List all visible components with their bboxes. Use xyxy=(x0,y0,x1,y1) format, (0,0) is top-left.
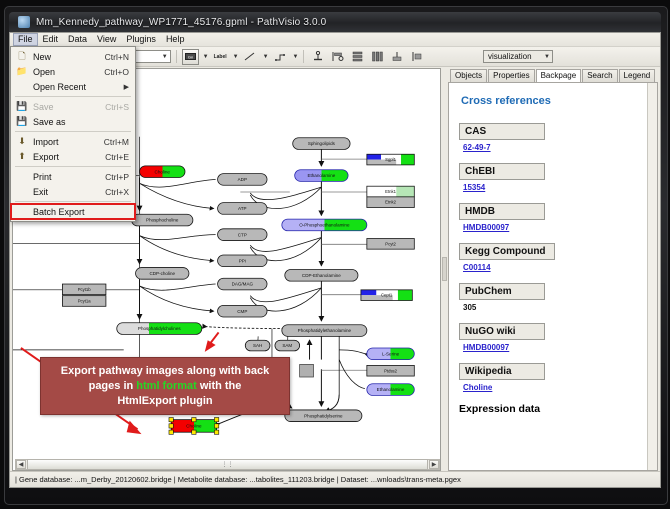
toolbar-separator xyxy=(176,50,177,63)
callout-line1: Export pathway images along with back xyxy=(61,365,269,377)
menu-view[interactable]: View xyxy=(92,33,121,46)
open-folder-icon: 📁 xyxy=(11,66,33,77)
menu-edit[interactable]: Edit xyxy=(38,33,64,46)
pathway-node-label: Choline xyxy=(155,169,171,174)
pathway-node-choline-selected[interactable]: Choline xyxy=(169,418,219,435)
file-menu-item-export[interactable]: ⬆ExportCtrl+E xyxy=(11,149,135,164)
pathway-gene-pcyt2[interactable]: Pcyt2 xyxy=(367,239,414,250)
pathway-node-label: Sphingolipids xyxy=(308,141,336,146)
pathway-node-label: CDP-choline xyxy=(149,271,175,276)
xref-label-kegg-compound: Kegg Compound xyxy=(459,243,555,260)
tab-legend[interactable]: Legend xyxy=(619,69,656,82)
pathway-gene-label: Ptdss2 xyxy=(384,368,398,373)
tab-objects[interactable]: Objects xyxy=(450,69,487,82)
pathway-node-choline-top[interactable]: Choline xyxy=(140,166,185,178)
pathway-node-label: Phosphocholine xyxy=(146,218,179,223)
status-bar-text: | Gene database: ...m_Derby_20120602.bri… xyxy=(10,475,461,484)
xref-label-wikipedia: Wikipedia xyxy=(459,363,545,380)
file-menu-item-new[interactable]: 🗋NewCtrl+N xyxy=(11,49,135,64)
selection-handle[interactable] xyxy=(214,424,218,428)
callout-line2-b: with the xyxy=(197,380,242,392)
pathway-node-label: Ethanolamine xyxy=(377,387,405,392)
status-bar: | Gene database: ...m_Derby_20120602.bri… xyxy=(10,471,660,487)
menu-bar: File Edit Data View Plugins Help xyxy=(10,33,660,47)
xref-label-chebi: ChEBI xyxy=(459,163,545,180)
file-menu-item-accelerator: Ctrl+P xyxy=(105,172,135,182)
file-menu-separator xyxy=(15,201,131,202)
file-menu-item-accelerator: Ctrl+M xyxy=(104,137,135,147)
datanode-icon[interactable]: Gn xyxy=(182,49,199,65)
file-menu-item-batch-export[interactable]: Batch Export xyxy=(11,204,135,219)
file-menu-separator xyxy=(15,131,131,132)
tab-properties[interactable]: Properties xyxy=(488,69,534,82)
xref-label-pubchem: PubChem xyxy=(459,283,545,300)
pathway-node-cmp[interactable]: CMP xyxy=(218,305,267,317)
label-dropdown-icon[interactable]: ▼ xyxy=(233,54,239,60)
pathway-node-phosphocholine[interactable]: Phosphocholine xyxy=(132,214,193,226)
scrollbar-thumb[interactable]: ⋮⋮ xyxy=(27,459,428,470)
side-panel: Objects Properties Backpage Search Legen… xyxy=(448,68,658,471)
align-left-icon[interactable] xyxy=(329,49,346,65)
pathway-node-label: ATP xyxy=(238,206,247,211)
interaction-dropdown-icon[interactable]: ▼ xyxy=(293,54,299,60)
pathway-gene-label: Pcyt2 xyxy=(385,241,396,246)
panel-splitter[interactable] xyxy=(441,66,448,471)
selection-handle[interactable] xyxy=(169,418,173,422)
file-menu-item-label: Import xyxy=(33,137,104,147)
annotation-callout-text: Export pathway images along with back pa… xyxy=(55,364,275,409)
xref-label-nugo-wiki: NuGO wiki xyxy=(459,323,545,340)
group-icon[interactable] xyxy=(389,49,406,65)
file-menu-item-label: Open xyxy=(33,67,104,77)
file-menu-item-label: Save as xyxy=(33,117,129,127)
pathway-node-label: CMP xyxy=(237,309,247,314)
pathway-gene-cept1[interactable]: Cept1 xyxy=(361,290,412,301)
pathway-node-label: Phosphatidylserine xyxy=(304,413,343,418)
file-menu-item-label: Exit xyxy=(33,187,105,197)
pathway-node-label: Phosphatidylethanolamine xyxy=(298,328,352,333)
pathway-gene-pcyt1a[interactable]: Pcyt1a xyxy=(62,296,105,307)
pathway-node-phosphatidylserine[interactable]: Phosphatidylserine xyxy=(285,410,362,422)
pathway-node-ethanolamine-bottom[interactable]: Ethanolamine xyxy=(367,384,414,396)
scroll-right-icon[interactable]: ▶ xyxy=(429,460,439,469)
line-icon[interactable] xyxy=(242,49,259,65)
pathway-node-label: O-Phosphoethanolamine xyxy=(299,223,350,228)
file-menu-item-accelerator: Ctrl+E xyxy=(105,152,135,162)
pathway-node-l-serine[interactable]: L-Serine xyxy=(367,348,414,360)
pathway-gene-label: Etnk1 xyxy=(385,189,396,194)
callout-line3: HtmlExport plugin xyxy=(117,395,212,407)
label-icon[interactable]: Label xyxy=(212,49,229,65)
pathway-node-label: SAH xyxy=(253,343,262,348)
file-menu-item-label: Batch Export xyxy=(33,207,129,217)
pathway-node-dag-mag[interactable]: DAG/MAG xyxy=(218,278,267,290)
file-menu-item-save-as[interactable]: 💾Save as xyxy=(11,114,135,129)
save-as-icon: 💾 xyxy=(11,116,33,127)
annotation-callout: Export pathway images along with back pa… xyxy=(40,357,290,415)
pathway-node-sphingolipids[interactable]: Sphingolipids xyxy=(293,138,350,150)
xref-value-pubchem: 305 xyxy=(463,303,649,312)
xref-value-chebi[interactable]: 15354 xyxy=(463,183,649,192)
file-menu-item-accelerator: Ctrl+X xyxy=(105,187,135,197)
file-menu-item-accelerator: Ctrl+S xyxy=(105,102,135,112)
file-menu-item-open[interactable]: 📁OpenCtrl+O xyxy=(11,64,135,79)
selection-handle[interactable] xyxy=(192,418,196,422)
expression-data-heading: Expression data xyxy=(459,403,649,415)
export-icon: ⬆ xyxy=(11,151,33,162)
save-disk-icon: 💾 xyxy=(11,101,33,112)
pathway-node-label: Ethanolamine xyxy=(307,173,335,178)
pathway-node-sah[interactable]: SAH xyxy=(245,340,270,351)
backpage-heading: Cross references xyxy=(461,95,649,107)
xref-value-kegg-compound[interactable]: C00114 xyxy=(463,263,649,272)
xref-label-hmdb: HMDB xyxy=(459,203,545,220)
pathway-node-ctp[interactable]: CTP xyxy=(218,229,267,241)
window-title: Mm_Kennedy_pathway_WP1771_45176.gpml - P… xyxy=(36,17,326,28)
screenshot-frame: Mm_Kennedy_pathway_WP1771_45176.gpml - P… xyxy=(0,0,670,509)
interaction-icon[interactable] xyxy=(272,49,289,65)
backpage-content: Cross references CAS62-49-7ChEBI15354HMD… xyxy=(448,82,658,471)
callout-line2-highlight: html format xyxy=(136,380,197,392)
file-menu-item-label: New xyxy=(33,52,105,62)
stack-icon[interactable] xyxy=(369,49,386,65)
anchor-icon[interactable] xyxy=(309,49,326,65)
visualization-value: visualization xyxy=(488,52,532,61)
window-title-bar: Mm_Kennedy_pathway_WP1771_45176.gpml - P… xyxy=(9,12,661,32)
visualization-combo[interactable]: visualization ▼ xyxy=(483,50,553,63)
file-menu-dropdown[interactable]: 🗋NewCtrl+N📁OpenCtrl+OOpen Recent▶💾SaveCt… xyxy=(10,46,136,222)
selection-handle[interactable] xyxy=(214,430,218,434)
pathway-gene-label: Sgpl1 xyxy=(385,157,396,162)
pathway-gene-label: Etnk2 xyxy=(385,200,396,205)
scroll-left-icon[interactable]: ◀ xyxy=(16,460,26,469)
callout-line2-a: pages in xyxy=(89,380,137,392)
pathway-node-sam[interactable]: SAM xyxy=(275,340,300,351)
pathway-node-cdp-ethanolamine[interactable]: CDP-Ethanolamine xyxy=(285,270,358,282)
cross-reference-list: CAS62-49-7ChEBI15354HMDBHMDB00097Kegg Co… xyxy=(459,123,649,392)
pathway-node-label: PPi xyxy=(239,258,246,263)
pathway-node-label: Choline xyxy=(186,424,202,429)
chevron-down-icon: ▼ xyxy=(162,54,168,60)
chevron-down-icon-2: ▼ xyxy=(544,54,550,60)
pathway-gene-ptdss2[interactable]: Ptdss2 xyxy=(367,365,414,376)
file-menu-item-label: Print xyxy=(33,172,105,182)
file-menu-separator xyxy=(15,166,131,167)
pathway-node-label: CTP xyxy=(238,232,247,237)
menu-file[interactable]: File xyxy=(13,33,38,46)
pathway-node-o-phosphoethanolamine[interactable]: O-Phosphoethanolamine xyxy=(282,219,367,231)
file-menu-item-accelerator: Ctrl+O xyxy=(104,67,135,77)
submenu-arrow-icon: ▶ xyxy=(124,83,135,91)
pathway-node-phosphatidylcholines[interactable]: Phosphatidylcholines xyxy=(117,323,202,335)
backpage-vertical-scrollbar[interactable] xyxy=(647,83,657,470)
selection-handle[interactable] xyxy=(192,430,196,434)
file-menu-item-label: Open Recent xyxy=(33,82,118,92)
order-icon[interactable] xyxy=(409,49,426,65)
pathway-gene-label: Cept1 xyxy=(381,293,393,298)
selection-handle[interactable] xyxy=(214,418,218,422)
pathway-node-ethanolamine-top[interactable]: Ethanolamine xyxy=(295,170,348,182)
pathway-gene-label: Pcyt1a xyxy=(78,299,92,304)
pathway-gene-etnk2[interactable]: Etnk2 xyxy=(367,197,414,208)
pathway-gene-pcyt1b[interactable]: Pcyt1b xyxy=(62,284,105,295)
pathway-node-label: SAM xyxy=(282,343,292,348)
pathway-node-label: CDP-Ethanolamine xyxy=(302,273,341,278)
xref-value-wikipedia[interactable]: Choline xyxy=(463,383,649,392)
menu-plugins[interactable]: Plugins xyxy=(121,33,161,46)
file-menu-item-open-recent[interactable]: Open Recent▶ xyxy=(11,79,135,94)
file-menu-item-label: Export xyxy=(33,152,105,162)
canvas-horizontal-scrollbar[interactable]: ◀ ⋮⋮ ▶ xyxy=(15,459,440,470)
file-menu-separator xyxy=(15,96,131,97)
align-top-icon[interactable] xyxy=(349,49,366,65)
xref-label-cas: CAS xyxy=(459,123,545,140)
datanode-dropdown-icon[interactable]: ▼ xyxy=(203,54,209,60)
new-file-icon: 🗋 xyxy=(11,49,33,65)
tab-backpage[interactable]: Backpage xyxy=(536,69,582,83)
file-menu-item-save: 💾SaveCtrl+S xyxy=(11,99,135,114)
pathway-gene-label: Pcyt1b xyxy=(78,287,92,292)
pathway-node-cdp-choline[interactable]: CDP-choline xyxy=(136,268,189,280)
xref-value-cas[interactable]: 62-49-7 xyxy=(463,143,649,152)
pathway-node-phosphatidylethanolamine[interactable]: Phosphatidylethanolamine xyxy=(282,325,367,337)
import-icon: ⬇ xyxy=(11,136,33,147)
pathway-node-adp[interactable]: ADP xyxy=(218,174,267,186)
menu-data[interactable]: Data xyxy=(63,33,92,46)
pathway-node-label: DAG/MAG xyxy=(232,282,254,287)
toolbar-separator-2 xyxy=(303,50,304,63)
pathway-gene-sgpl1[interactable]: Sgpl1 xyxy=(367,154,414,165)
side-panel-tabs: Objects Properties Backpage Search Legen… xyxy=(448,68,658,82)
xref-value-nugo-wiki[interactable]: HMDB00097 xyxy=(463,343,649,352)
file-menu-item-exit[interactable]: ExitCtrl+X xyxy=(11,184,135,199)
file-menu-item-label: Save xyxy=(33,102,105,112)
splitter-grip-icon[interactable] xyxy=(442,257,447,281)
selection-handle[interactable] xyxy=(169,430,173,434)
tab-search[interactable]: Search xyxy=(582,69,617,82)
selection-handle[interactable] xyxy=(169,424,173,428)
xref-value-hmdb[interactable]: HMDB00097 xyxy=(463,223,649,232)
pathway-node-label: ADP xyxy=(238,177,247,182)
pathway-gene-etnk1[interactable]: Etnk1 xyxy=(367,186,414,197)
file-menu-item-import[interactable]: ⬇ImportCtrl+M xyxy=(11,134,135,149)
pathvisio-icon xyxy=(18,16,30,28)
file-menu-item-print[interactable]: PrintCtrl+P xyxy=(11,169,135,184)
svg-text:Gn: Gn xyxy=(188,54,193,59)
pathway-node-label: L-Serine xyxy=(382,351,400,356)
pathway-node-label: Phosphatidylcholines xyxy=(138,326,181,331)
pathway-node-ppi[interactable]: PPi xyxy=(218,255,267,267)
pathway-node-atp[interactable]: ATP xyxy=(218,203,267,215)
line-dropdown-icon[interactable]: ▼ xyxy=(263,54,269,60)
menu-help[interactable]: Help xyxy=(161,33,190,46)
label-button-text: Label xyxy=(214,54,227,60)
file-menu-item-accelerator: Ctrl+N xyxy=(105,52,135,62)
